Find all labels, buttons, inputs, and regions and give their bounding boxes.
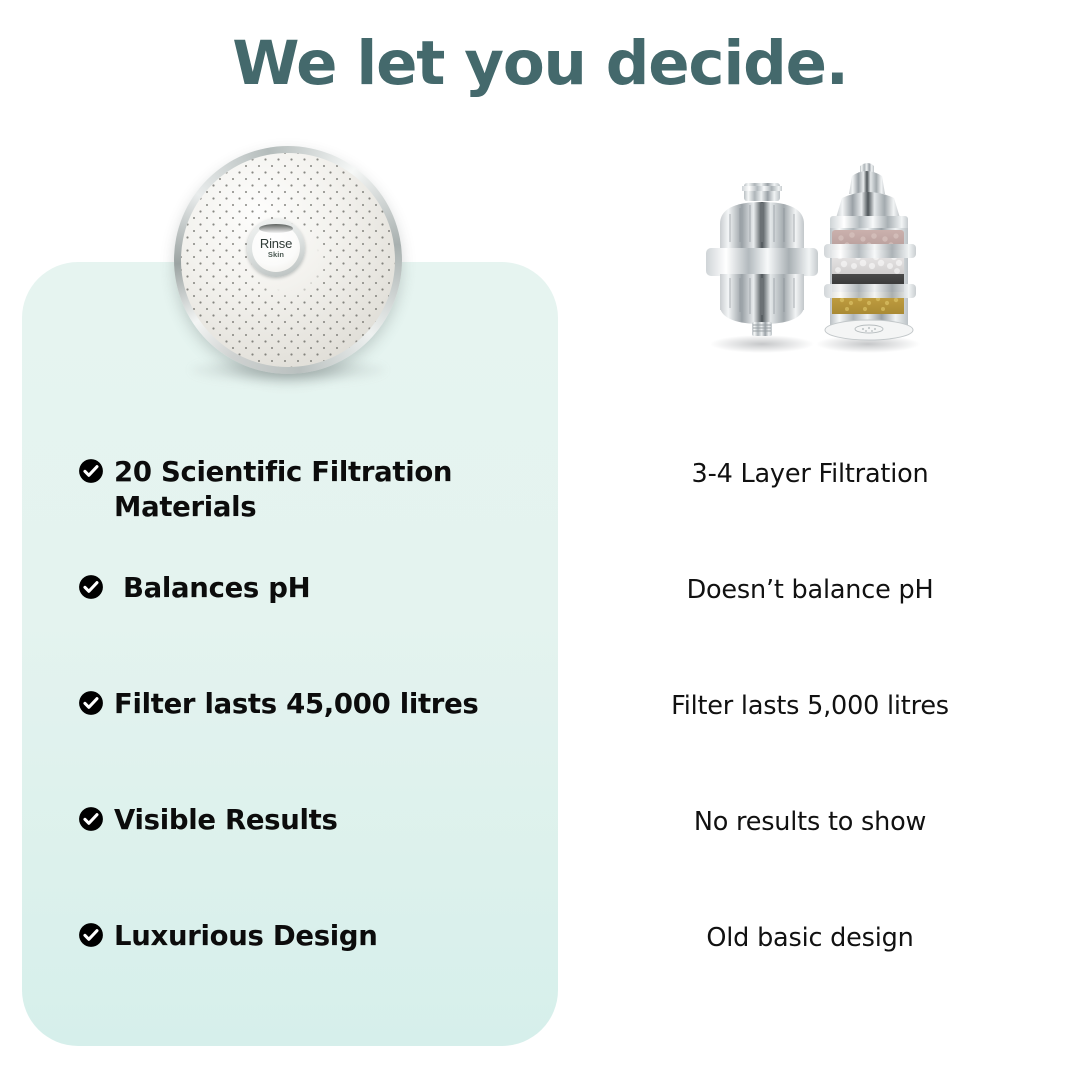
hub-gloss-highlight — [259, 224, 293, 233]
ours-cell: Visible Results — [78, 803, 508, 838]
ours-feature-label: Filter lasts 45,000 litres — [114, 687, 478, 722]
theirs-feature-label: Doesn’t balance pH — [600, 574, 1020, 607]
ours-feature-label: Luxurious Design — [114, 919, 378, 954]
comparison-row: Filter lasts 45,000 litres Filter lasts … — [0, 687, 1080, 803]
ours-cell: 20 Scientific Filtration Materials — [78, 455, 508, 524]
shower-filters-illustration — [692, 158, 936, 363]
brand-logo-main: Rinse — [260, 237, 292, 250]
ours-cell: Balances pH — [78, 571, 508, 606]
comparison-infographic: We let you decide. Rinse Skin — [0, 0, 1080, 1080]
comparison-row: Luxurious Design Old basic design — [0, 919, 1080, 1035]
ours-cell: Luxurious Design — [78, 919, 508, 954]
ours-feature-label: Visible Results — [114, 803, 338, 838]
check-circle-icon — [78, 574, 104, 600]
page-title: We let you decide. — [0, 28, 1080, 99]
ours-feature-label: Balances pH — [114, 571, 310, 606]
check-circle-icon — [78, 690, 104, 716]
product-image-theirs — [692, 158, 936, 363]
theirs-feature-label: Filter lasts 5,000 litres — [600, 690, 1020, 723]
check-circle-icon — [78, 458, 104, 484]
check-circle-icon — [78, 922, 104, 948]
product-image-ours: Rinse Skin — [168, 142, 408, 392]
theirs-feature-label: No results to show — [600, 806, 1020, 839]
brand-logo: Rinse Skin — [252, 224, 300, 272]
showerhead-center-button: Rinse Skin — [247, 219, 305, 277]
theirs-feature-label: 3-4 Layer Filtration — [600, 458, 1020, 491]
comparison-row: Visible Results No results to show — [0, 803, 1080, 919]
ours-feature-label: 20 Scientific Filtration Materials — [114, 455, 508, 524]
brand-logo-sub: Skin — [268, 251, 284, 259]
comparison-table: 20 Scientific Filtration Materials 3-4 L… — [0, 455, 1080, 1035]
comparison-row: 20 Scientific Filtration Materials 3-4 L… — [0, 455, 1080, 571]
check-circle-icon — [78, 806, 104, 832]
comparison-row: Balances pH Doesn’t balance pH — [0, 571, 1080, 687]
theirs-feature-label: Old basic design — [600, 922, 1020, 955]
ours-cell: Filter lasts 45,000 litres — [78, 687, 508, 722]
